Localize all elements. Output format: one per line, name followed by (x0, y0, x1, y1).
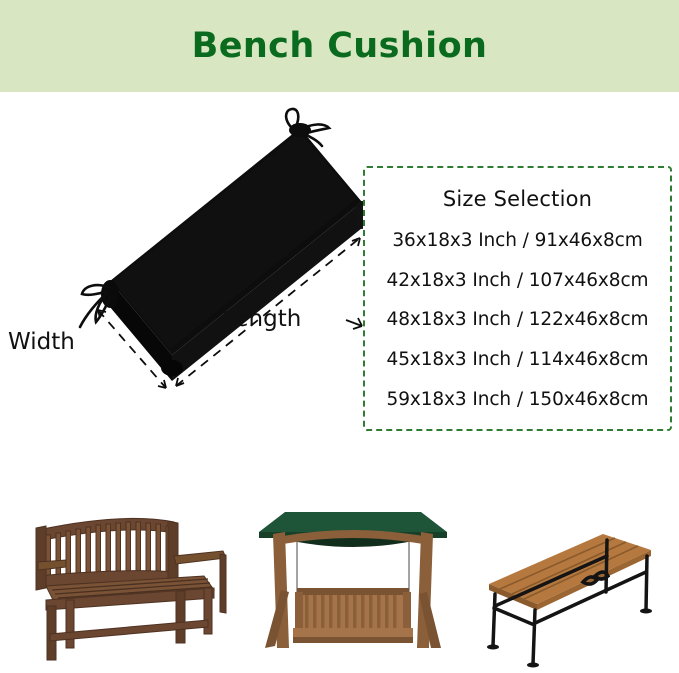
size-selection-box: Size Selection 36x18x3 Inch / 91x46x8cm … (363, 166, 672, 431)
furniture-examples-row (0, 488, 679, 673)
cushion-illustration: Width Length (0, 96, 372, 426)
header-banner: Bench Cushion (0, 0, 679, 92)
backless-slat-bench-image (465, 488, 675, 673)
size-option-3[interactable]: 45x18x3 Inch / 114x46x8cm (387, 349, 649, 370)
cushion-body (101, 123, 370, 381)
wooden-garden-bench-image (8, 488, 238, 673)
pointer-arrow (346, 318, 362, 329)
page-title: Bench Cushion (192, 26, 488, 66)
size-option-1[interactable]: 42x18x3 Inch / 107x46x8cm (387, 270, 649, 291)
cushion-tie-strap-left (80, 285, 110, 327)
size-selection-title: Size Selection (443, 187, 592, 211)
size-option-2[interactable]: 48x18x3 Inch / 122x46x8cm (387, 309, 649, 330)
length-label: Length (222, 306, 301, 332)
size-option-4[interactable]: 59x18x3 Inch / 150x46x8cm (387, 389, 649, 410)
size-option-0[interactable]: 36x18x3 Inch / 91x46x8cm (392, 230, 642, 251)
width-label: Width (8, 329, 75, 355)
wooden-porch-swing-image (245, 488, 460, 673)
